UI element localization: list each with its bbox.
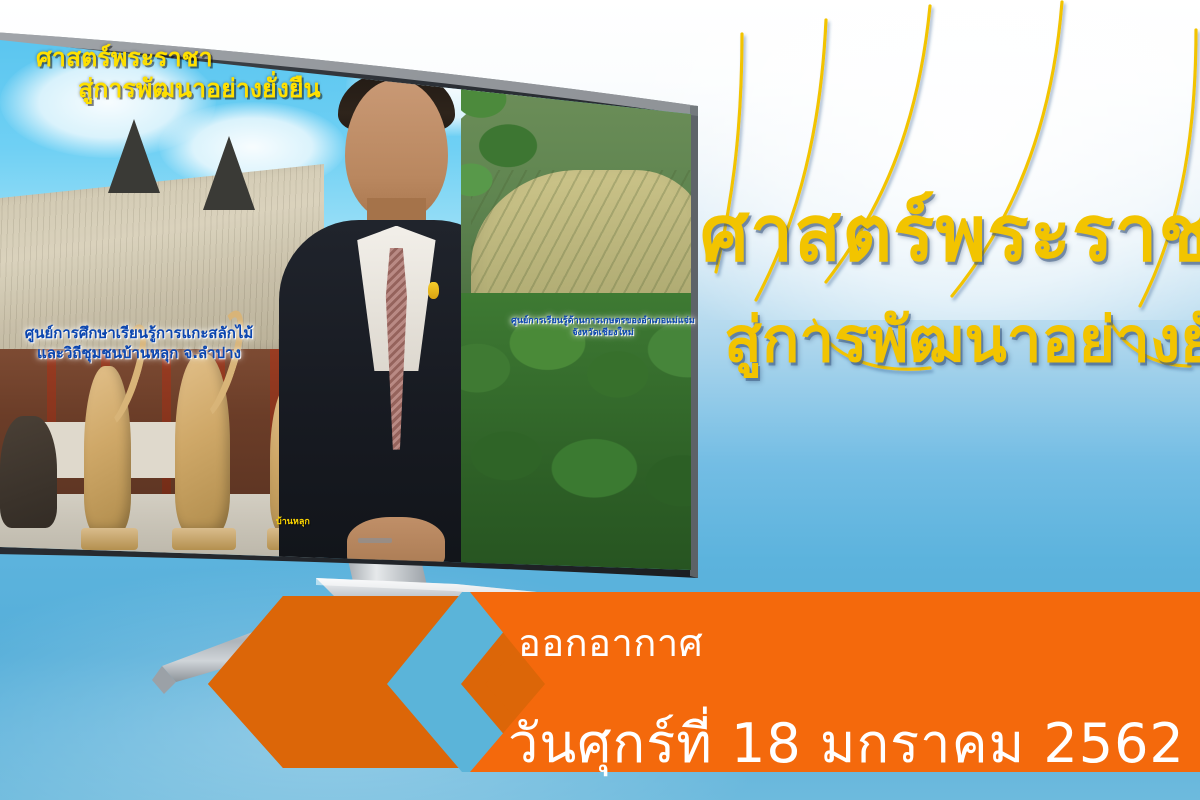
main-headline: ศาสตร์พระราชา สู่การพัฒนาอย่างยั่งยืน (700, 196, 1200, 371)
screen-caption-left-line2: และวิถีชุมชนบ้านหลุก จ.ลำปาง (4, 344, 274, 364)
screen-sign-label: บ้านหลุก (276, 514, 310, 528)
banner-label-broadcast: ออกอากาศ (518, 612, 703, 673)
screen-caption-right-line2: จังหวัดเชียงใหม่ (498, 328, 708, 340)
tv-screen (0, 24, 706, 584)
screen-caption-left: ศูนย์การศึกษาเรียนรู้การแกะสลักไม้ และวิ… (4, 324, 274, 363)
screen-caption-right: ศูนย์การเรียนรู้ด้านการเกษตรของอำเภอแม่แ… (498, 316, 708, 339)
television-set: ศาสตร์พระราชา สู่การพัฒนาอย่างยั่งยืน ศู… (0, 0, 746, 694)
main-headline-line2: สู่การพัฒนาอย่างยั่งยืน (724, 309, 1200, 371)
screen-overlay-title-line2: สู่การพัฒนาอย่างยั่งยืน (32, 73, 321, 104)
screen-caption-left-line1: ศูนย์การศึกษาเรียนรู้การแกะสลักไม้ (4, 324, 274, 344)
screen-overlay-title-line1: ศาสตร์พระราชา (32, 42, 321, 73)
screen-overlay-title: ศาสตร์พระราชา สู่การพัฒนาอย่างยั่งยืน (32, 42, 321, 105)
promo-graphic-canvas: ศาสตร์พระราชา สู่การพัฒนาอย่างยั่งยืน ศู… (0, 0, 1200, 800)
main-headline-line1: ศาสตร์พระราชา (700, 196, 1200, 273)
banner-label-date: วันศุกร์ที่ 18 มกราคม 2562 (508, 700, 1185, 786)
screen-caption-right-line1: ศูนย์การเรียนรู้ด้านการเกษตรของอำเภอแม่แ… (498, 316, 708, 328)
